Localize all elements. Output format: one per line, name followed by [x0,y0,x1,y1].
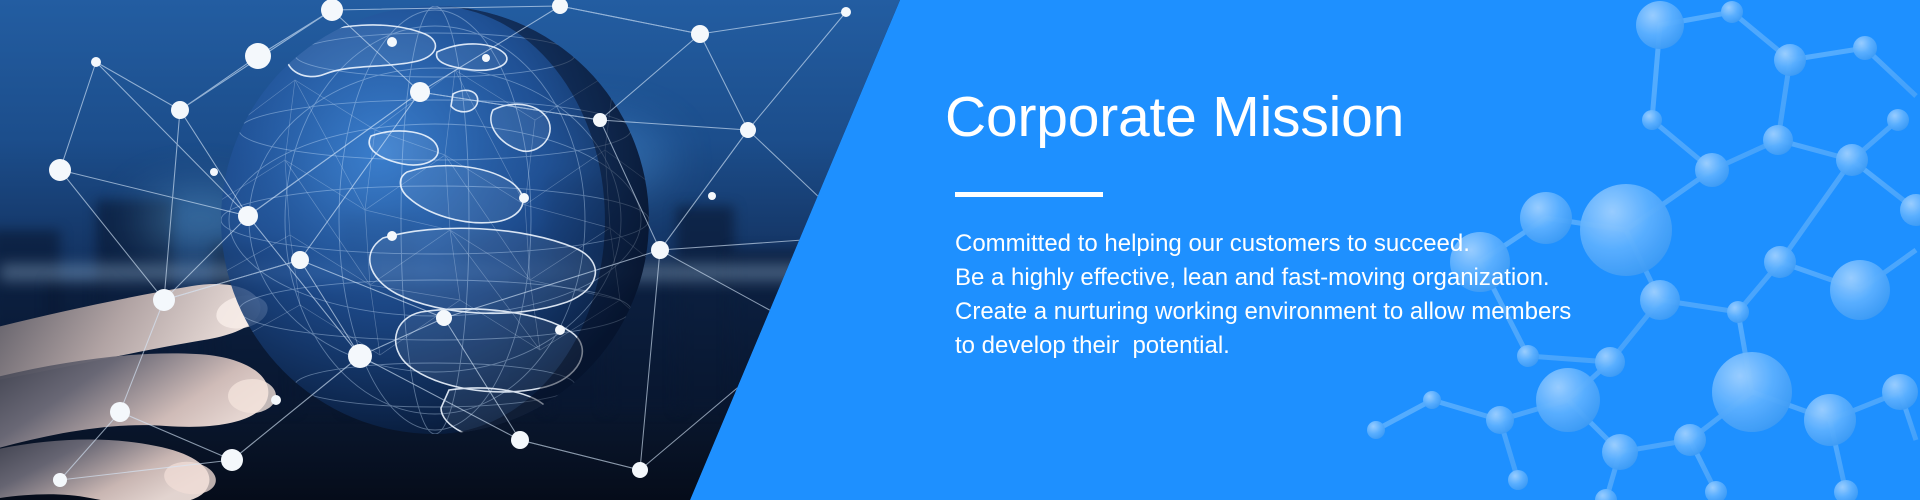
title-divider [955,192,1103,197]
mission-line-3: Create a nurturing working environment t… [955,295,1685,329]
corporate-mission-banner: Corporate Mission Committed to helping o… [0,0,1920,500]
mission-line-4: to develop their potential. [955,329,1685,363]
banner-content: Corporate Mission Committed to helping o… [945,88,1685,363]
mission-line-1: Committed to helping our customers to su… [955,227,1685,261]
page-title: Corporate Mission [945,88,1685,148]
mission-line-2: Be a highly effective, lean and fast-mov… [955,261,1685,295]
mission-statement: Committed to helping our customers to su… [955,227,1685,363]
